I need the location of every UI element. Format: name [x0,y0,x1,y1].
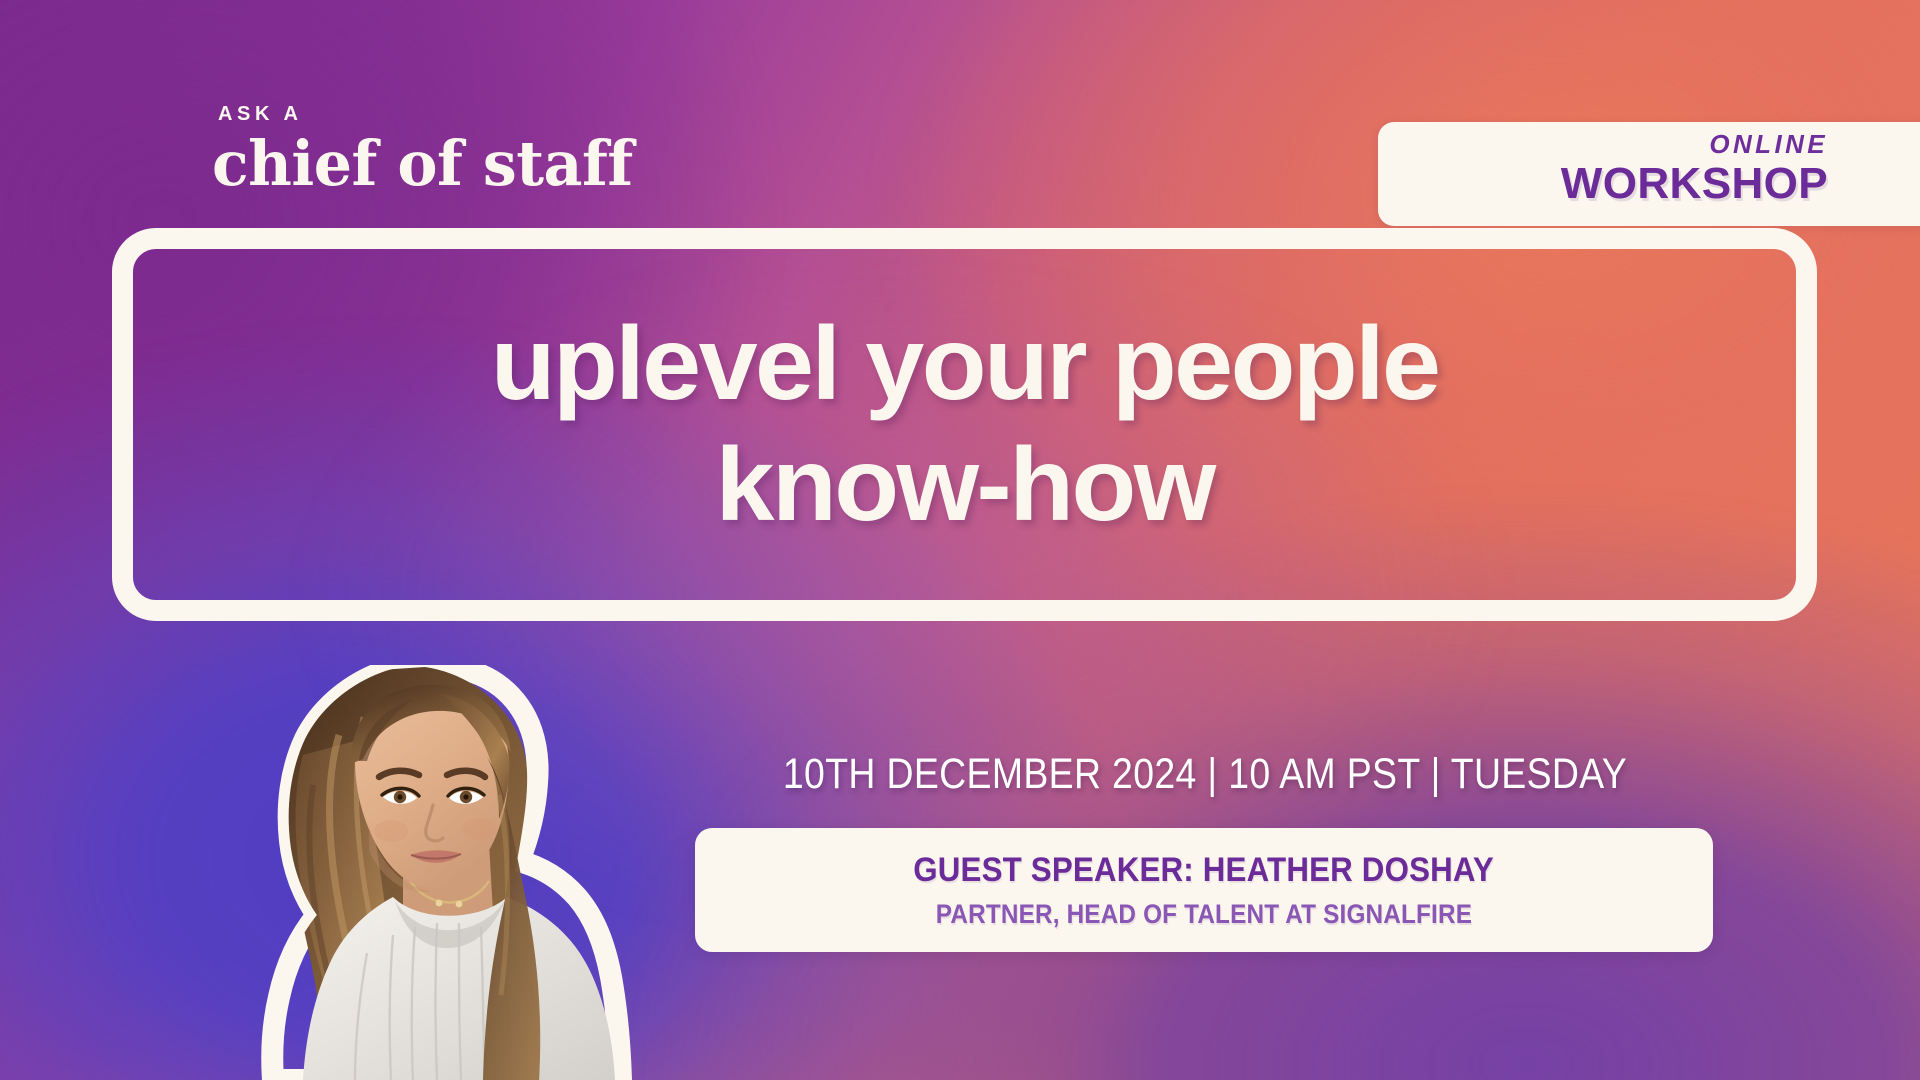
brand-name: chief of staff [212,132,633,195]
brand-lockup: ASK A chief of staff [212,104,646,195]
online-workshop-badge: ONLINE WORKSHOP [1378,122,1920,226]
speaker-role: PARTNER, HEAD OF TALENT AT SIGNALFIRE [936,899,1472,930]
event-date-line: 10TH DECEMBER 2024 | 10 AM PST | TUESDAY [761,750,1648,799]
speaker-card: GUEST SPEAKER: HEATHER DOSHAY PARTNER, H… [695,828,1713,952]
headline-line-2: know-how [491,425,1439,546]
speaker-name: GUEST SPEAKER: HEATHER DOSHAY [914,851,1495,890]
badge-kicker-online: ONLINE [1378,131,1828,157]
badge-title-workshop: WORKSHOP [1378,161,1828,207]
brand-eyebrow: ASK A [218,104,646,124]
speaker-portrait-illustration [243,665,649,1080]
workshop-promo-poster: ASK A chief of staff ONLINE WORKSHOP upl… [0,0,1920,1080]
headline-line-1: uplevel your people [491,306,1439,422]
speaker-portrait [243,665,649,1080]
headline: uplevel your people know-how [491,304,1439,545]
headline-frame: uplevel your people know-how [112,228,1817,621]
